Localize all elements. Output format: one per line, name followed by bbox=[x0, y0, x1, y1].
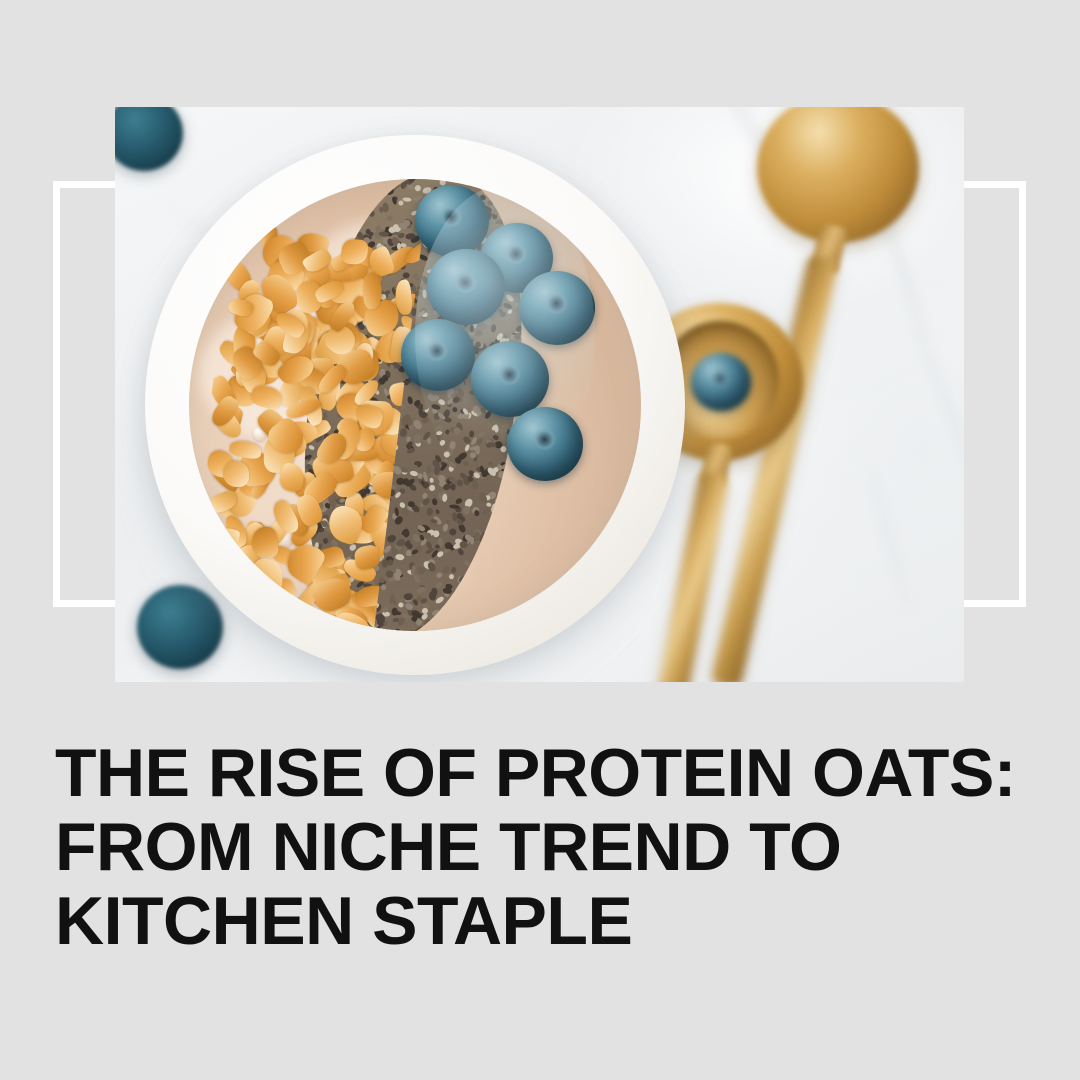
chia-seed bbox=[444, 542, 451, 549]
chia-seed bbox=[410, 549, 418, 556]
chia-seed bbox=[481, 571, 489, 579]
chia-seed bbox=[381, 584, 386, 590]
chia-seed bbox=[447, 391, 452, 399]
nut-piece bbox=[251, 558, 284, 594]
chia-seed bbox=[347, 201, 356, 209]
chia-seed bbox=[501, 192, 512, 203]
nut-piece bbox=[353, 544, 382, 572]
blueberry bbox=[519, 271, 595, 345]
chia-seed bbox=[394, 491, 401, 499]
chia-seed bbox=[442, 494, 447, 502]
chia-seed bbox=[416, 586, 426, 594]
chia-seed bbox=[436, 431, 443, 436]
chia-seed bbox=[494, 425, 499, 432]
chia-seed bbox=[457, 479, 464, 487]
smoothie-bowl bbox=[145, 135, 685, 675]
chia-seed bbox=[411, 564, 417, 574]
chia-seed bbox=[488, 539, 499, 547]
chia-seed bbox=[462, 460, 469, 467]
chia-seed bbox=[498, 319, 508, 326]
chia-seed bbox=[475, 580, 482, 590]
chia-seed bbox=[431, 497, 438, 505]
chia-seed bbox=[466, 624, 473, 631]
social-post-poster: THE RISE OF PROTEIN OATS: FROM NICHE TRE… bbox=[0, 0, 1080, 1080]
chia-seed bbox=[414, 185, 422, 193]
chia-seed bbox=[498, 501, 503, 510]
chia-seed bbox=[449, 529, 456, 536]
chia-seed bbox=[494, 189, 500, 195]
chia-seed bbox=[399, 427, 407, 437]
chia-seed bbox=[501, 496, 509, 504]
blueberry bbox=[415, 185, 489, 257]
chia-seed bbox=[459, 541, 468, 548]
chia-seed bbox=[479, 465, 485, 473]
blueberry bbox=[471, 341, 549, 417]
chia-seed bbox=[457, 415, 464, 421]
chia-seed bbox=[441, 564, 451, 575]
chia-seed bbox=[451, 567, 456, 573]
chia-seed bbox=[451, 406, 458, 413]
blueberry-on-spoon bbox=[691, 353, 751, 411]
chia-seed bbox=[426, 466, 431, 473]
chia-seed bbox=[427, 561, 437, 573]
chia-seed bbox=[426, 508, 433, 516]
chia-seed bbox=[416, 619, 422, 625]
chia-seed bbox=[449, 505, 459, 509]
chia-seed bbox=[469, 430, 475, 437]
chia-seed bbox=[442, 523, 449, 532]
chia-seed bbox=[473, 510, 480, 517]
nut-piece bbox=[228, 440, 262, 460]
chia-seed bbox=[488, 184, 496, 190]
chia-seed bbox=[535, 189, 542, 194]
chia-seed bbox=[439, 439, 447, 447]
page-title: THE RISE OF PROTEIN OATS: FROM NICHE TRE… bbox=[55, 736, 1035, 958]
chia-seed bbox=[393, 610, 401, 615]
chia-seed bbox=[498, 428, 507, 435]
chia-seed bbox=[403, 593, 412, 600]
chia-seed bbox=[451, 630, 459, 631]
chia-seed bbox=[394, 627, 403, 631]
chia-seed bbox=[398, 602, 404, 608]
chia-seed bbox=[502, 471, 512, 481]
chia-seed bbox=[465, 561, 471, 567]
chia-seed bbox=[481, 618, 485, 624]
blueberry bbox=[401, 319, 475, 391]
chia-seed bbox=[469, 324, 473, 332]
chia-seed bbox=[406, 541, 414, 549]
chia-seed bbox=[386, 214, 394, 221]
chia-seed bbox=[457, 547, 465, 555]
chia-seed bbox=[413, 433, 421, 443]
chia-seed bbox=[435, 572, 443, 580]
chia-seed bbox=[474, 329, 483, 337]
chia-seed bbox=[379, 207, 384, 214]
chia-seed bbox=[497, 517, 504, 526]
chia-seed bbox=[475, 608, 482, 615]
chia-seed bbox=[425, 533, 431, 539]
chia-seed bbox=[452, 396, 461, 404]
chia-seed bbox=[495, 219, 505, 225]
chia-seed bbox=[461, 396, 470, 406]
chia-seed bbox=[478, 492, 488, 502]
chia-seed bbox=[477, 430, 486, 438]
chia-seed bbox=[541, 222, 546, 231]
blueberry bbox=[427, 249, 505, 325]
chia-seed bbox=[472, 479, 479, 489]
chia-seed bbox=[406, 396, 413, 405]
chia-seed bbox=[490, 324, 496, 332]
chia-seed bbox=[448, 574, 455, 581]
chia-seed bbox=[403, 529, 410, 538]
chia-seed bbox=[413, 574, 421, 584]
chia-seed bbox=[395, 538, 406, 547]
hero-photo bbox=[115, 107, 964, 682]
chia-seed bbox=[493, 549, 503, 560]
chia-seed bbox=[452, 590, 457, 599]
chia-seed bbox=[476, 341, 482, 347]
chia-seed bbox=[469, 451, 476, 458]
blueberry bbox=[507, 407, 583, 481]
chia-seed bbox=[360, 208, 370, 215]
chia-seed bbox=[501, 495, 510, 505]
chia-seed bbox=[337, 201, 347, 210]
chia-seed bbox=[455, 497, 463, 505]
smoothie-surface bbox=[189, 179, 641, 631]
nut-piece bbox=[223, 461, 249, 487]
chia-seed bbox=[463, 179, 471, 186]
chia-seed bbox=[407, 448, 416, 455]
nut-piece bbox=[249, 383, 284, 412]
chia-seed bbox=[434, 509, 440, 515]
